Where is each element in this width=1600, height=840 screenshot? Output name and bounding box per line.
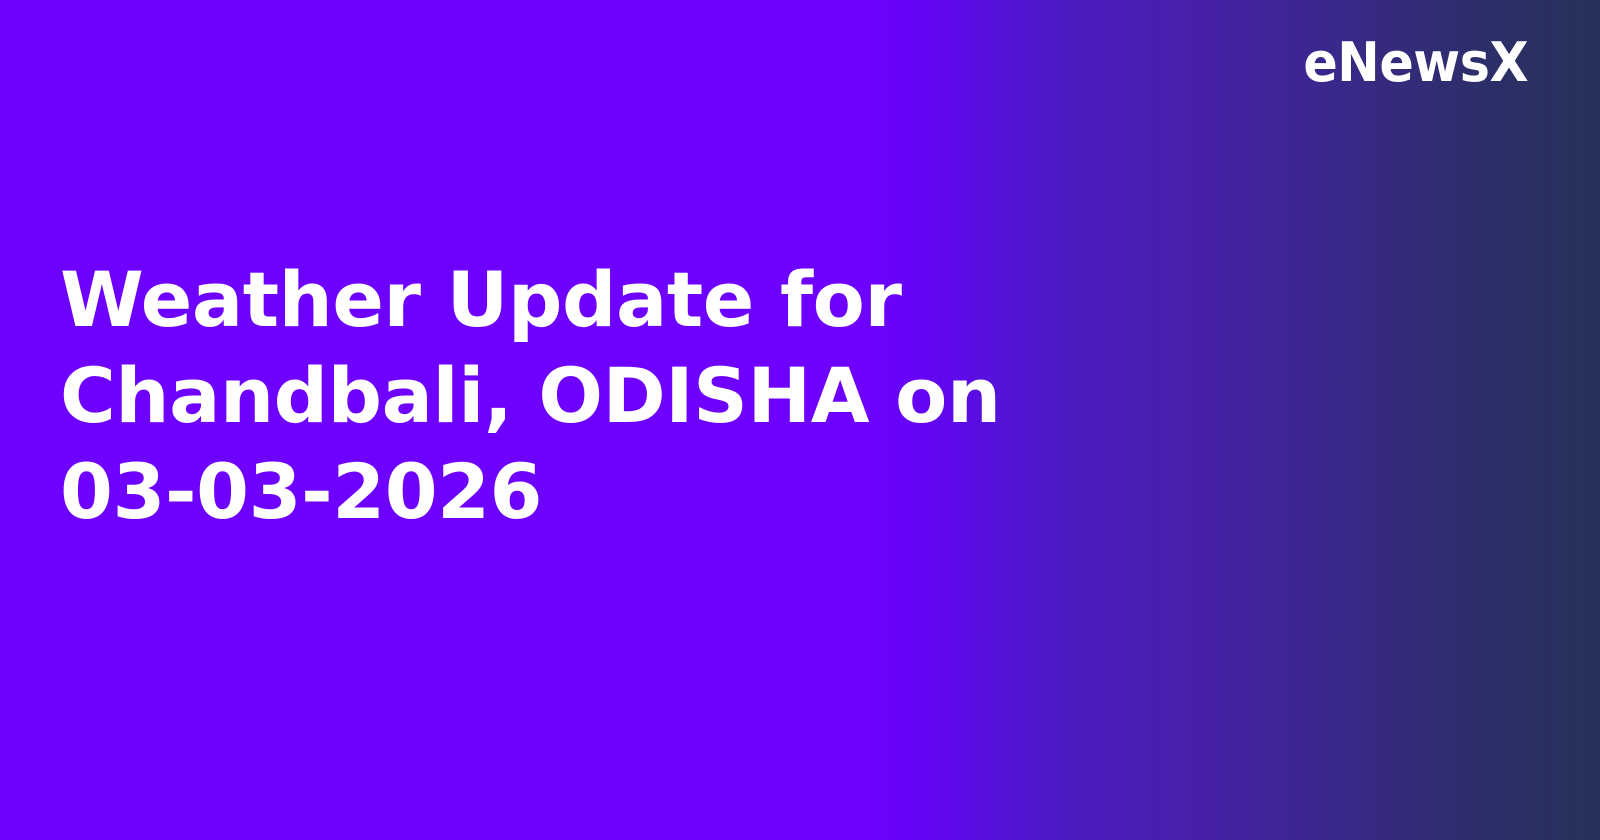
page-title: Weather Update for Chandbali, ODISHA on … [60,252,1130,539]
headline-block: Weather Update for Chandbali, ODISHA on … [60,252,1130,539]
news-card-poster: eNewsX Weather Update for Chandbali, ODI… [0,0,1600,840]
brand-logo[interactable]: eNewsX [1289,31,1528,95]
brand-wordmark: eNewsX [1303,36,1528,90]
